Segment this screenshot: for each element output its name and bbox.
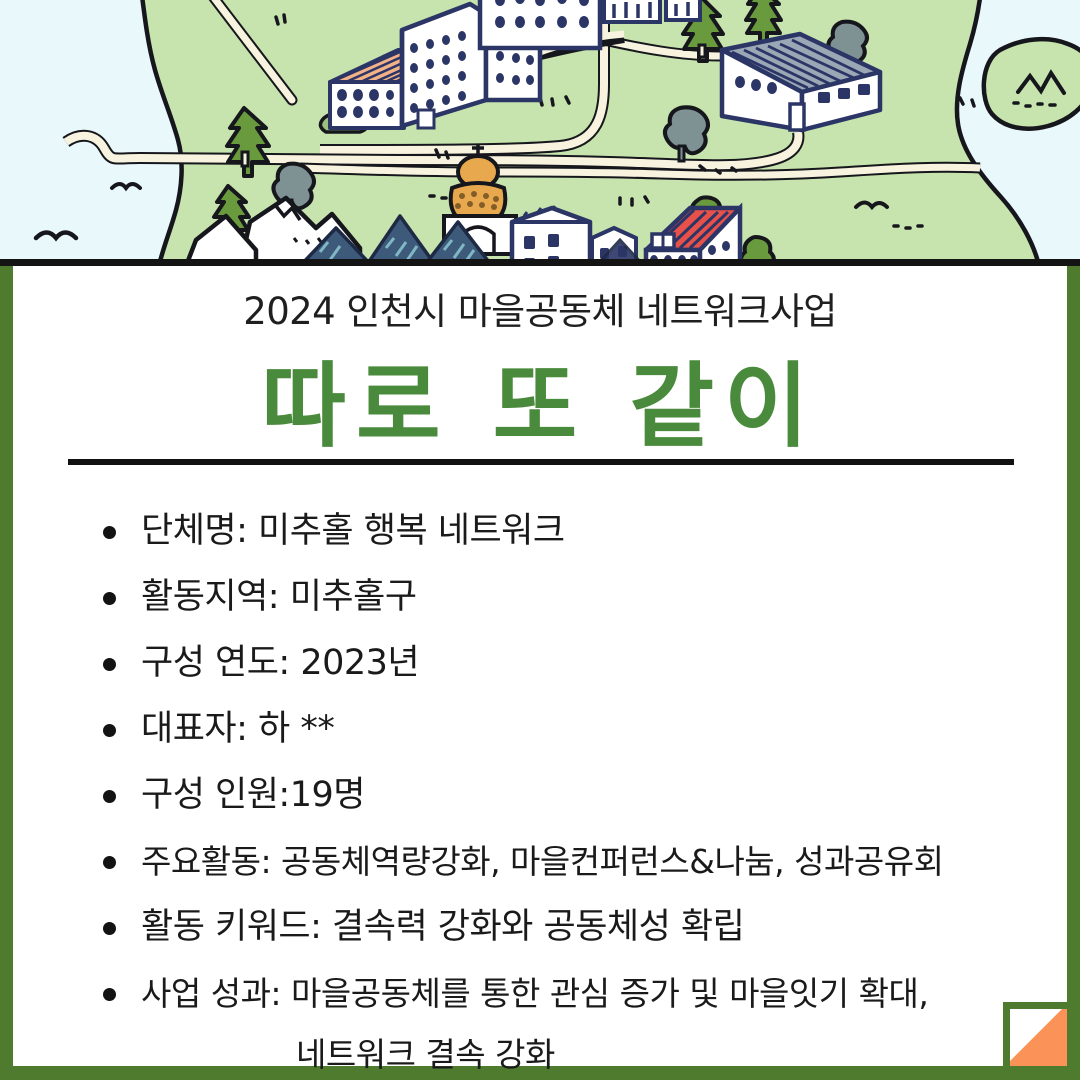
bullet-dot-icon <box>103 526 116 539</box>
list-item-text: 구성 인원:19명 <box>141 775 365 815</box>
village-map-illustration <box>0 0 1080 266</box>
decorative-corner <box>995 994 1067 1066</box>
list-item: 대표자: 하 ** <box>91 699 1031 760</box>
list-item: 주요활동: 공동체역량강화, 마을컨퍼런스&나눔, 성과공유회 <box>91 831 1031 892</box>
poster-subtitle: 2024 인천시 마을공동체 네트워크사업 <box>13 289 1067 335</box>
content-card-frame: 2024 인천시 마을공동체 네트워크사업 따로 또 같이 단체명: 미추홀 행… <box>0 266 1080 1080</box>
list-item: 사업 성과: 마을공동체를 통한 관심 증가 및 마을잇기 확대, 네트워크 결… <box>91 963 1031 1080</box>
list-item: 단체명: 미추홀 행복 네트워크 <box>91 501 1031 562</box>
bullet-dot-icon <box>103 988 116 1001</box>
list-item: 활동 키워드: 결속력 강화와 공동체성 확립 <box>91 897 1031 958</box>
list-item-text: 주요활동: 공동체역량강화, 마을컨퍼런스&나눔, 성과공유회 <box>141 842 943 881</box>
list-item-text: 대표자: 하 ** <box>141 709 334 749</box>
corner-inner-fill <box>1013 1010 1059 1056</box>
list-item: 구성 연도: 2023년 <box>91 633 1031 694</box>
bullet-dot-icon <box>103 658 116 671</box>
bullet-dot-icon <box>103 592 116 605</box>
list-item-text: 활동지역: 미추홀구 <box>141 577 417 617</box>
bullet-dot-icon <box>103 856 116 869</box>
detail-list: 단체명: 미추홀 행복 네트워크 활동지역: 미추홀구 구성 연도: 2023년… <box>91 501 1031 1080</box>
list-item-text-line2: 네트워크 결속 강화 <box>141 1024 1031 1080</box>
list-item-text: 사업 성과: 마을공동체를 통한 관심 증가 및 마을잇기 확대, <box>141 974 928 1013</box>
bullet-dot-icon <box>103 724 116 737</box>
bullet-dot-icon <box>103 922 116 935</box>
content-card: 2024 인천시 마을공동체 네트워크사업 따로 또 같이 단체명: 미추홀 행… <box>13 266 1067 1066</box>
list-item-text: 구성 연도: 2023년 <box>141 643 419 683</box>
list-item-text: 활동 키워드: 결속력 강화와 공동체성 확립 <box>141 907 744 947</box>
poster-root: 2024 인천시 마을공동체 네트워크사업 따로 또 같이 단체명: 미추홀 행… <box>0 0 1080 1080</box>
list-item: 구성 인원:19명 <box>91 765 1031 826</box>
title-divider <box>68 459 1014 465</box>
poster-title: 따로 또 같이 <box>13 352 1067 462</box>
list-item: 활동지역: 미추홀구 <box>91 567 1031 628</box>
list-item-text: 단체명: 미추홀 행복 네트워크 <box>141 511 565 551</box>
bullet-dot-icon <box>103 790 116 803</box>
illustration-baseline-divider <box>0 259 1080 266</box>
